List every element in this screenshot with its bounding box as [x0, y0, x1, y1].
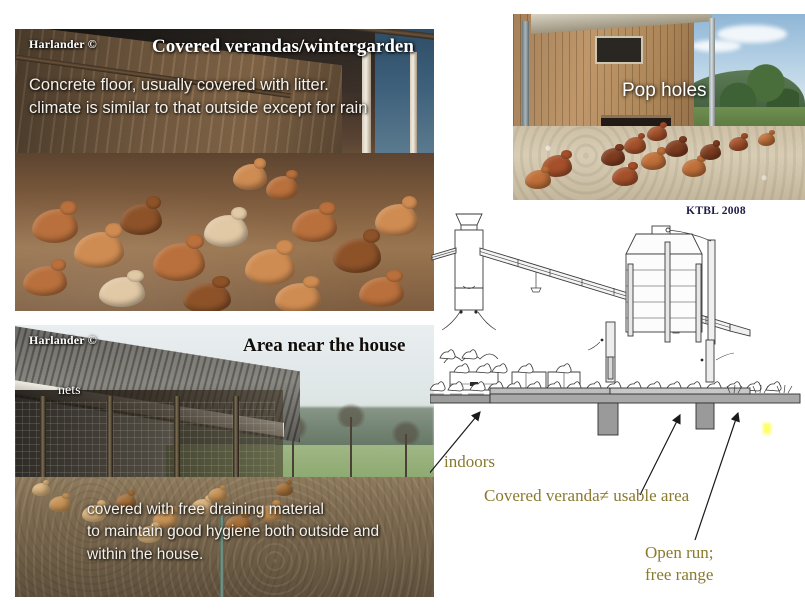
hen: [99, 277, 145, 307]
annotation-covered-veranda: Covered veranda≠ usable area: [484, 486, 689, 506]
hen: [758, 133, 775, 146]
pop-holes-label: Pop holes: [622, 80, 707, 102]
hen: [729, 137, 748, 151]
photo-covered-veranda: Harlander ©: [15, 29, 434, 311]
hen: [23, 266, 67, 296]
hen: [292, 209, 337, 242]
hen: [612, 167, 638, 186]
photo-credit-harlander: Harlander ©: [29, 333, 97, 348]
downpipe: [709, 18, 715, 133]
hen: [153, 243, 205, 281]
hen: [641, 152, 666, 170]
hen: [32, 209, 78, 243]
veranda-description: Concrete floor, usually covered with lit…: [29, 74, 367, 121]
hen: [682, 159, 706, 177]
hen: [700, 144, 721, 160]
photo-pop-holes: [513, 14, 805, 200]
hen: [624, 137, 646, 154]
hen: [266, 176, 298, 200]
ventilation-chimney: [442, 214, 496, 330]
feed-conveyor-left-arm: [432, 248, 456, 260]
hen: [665, 140, 688, 157]
photo-credit-harlander: Harlander ©: [29, 37, 97, 52]
hen: [601, 148, 625, 166]
hen: [525, 170, 551, 189]
popholes-scene: [513, 14, 805, 200]
hen: [233, 164, 267, 190]
hen: [375, 204, 418, 236]
arrow-covered-veranda: [640, 415, 680, 495]
bare-tree: [350, 417, 352, 482]
slide-canvas: Harlander © Covered verandas/wintergarde…: [0, 0, 805, 615]
bare-tree: [405, 434, 407, 483]
veranda-title: Covered verandas/wintergarden: [152, 36, 414, 58]
nets-label: nets: [58, 383, 81, 399]
arrow-open-run: [695, 413, 738, 540]
area-near-house-title: Area near the house: [243, 335, 405, 357]
yellow-highlight-mark: [763, 423, 771, 434]
feed-silo: [626, 226, 715, 344]
annotation-arrows: [430, 380, 805, 580]
hen: [275, 483, 293, 496]
hen: [49, 496, 71, 512]
veranda-scene: [15, 29, 434, 311]
barn-window: [595, 36, 643, 64]
hen: [245, 249, 295, 285]
area-near-house-description: covered with free draining material to m…: [87, 499, 379, 566]
annotation-open-run: Open run; free range: [645, 542, 713, 587]
hen: [32, 483, 50, 496]
annotation-indoors: indoors: [444, 452, 495, 472]
hen: [647, 126, 667, 141]
